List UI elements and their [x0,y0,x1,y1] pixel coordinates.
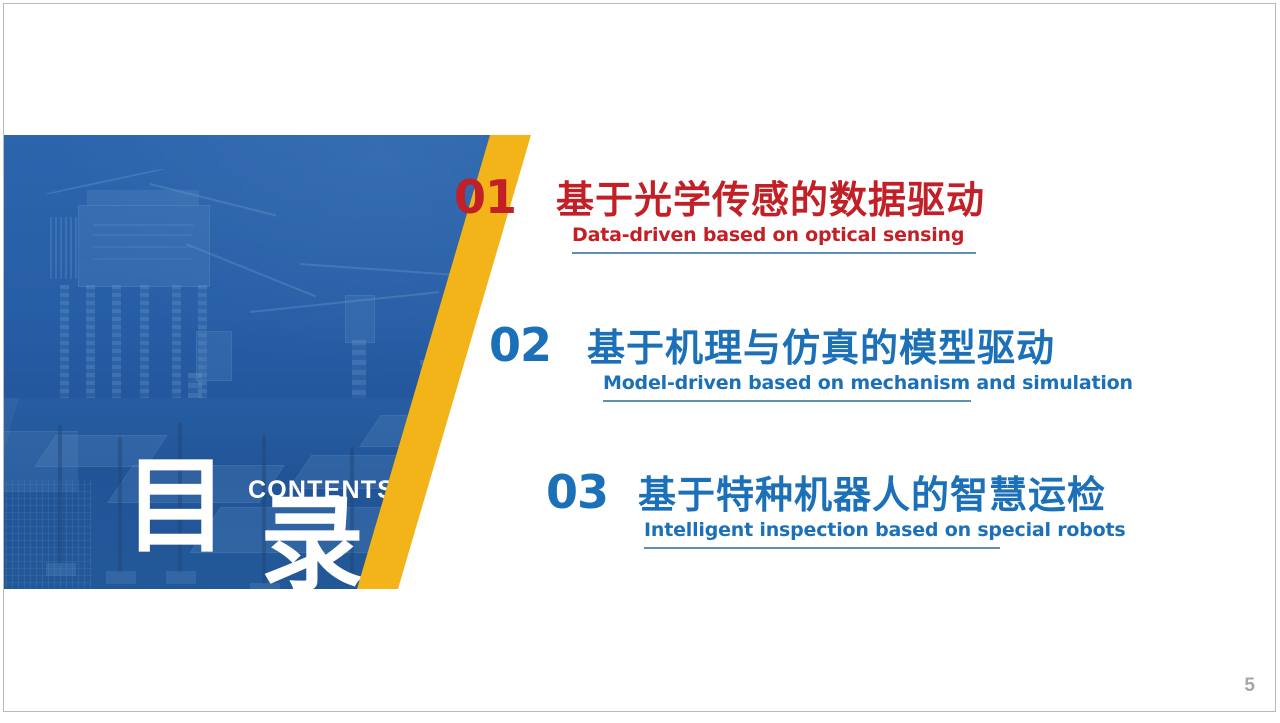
toc-item-02-subtitle-wrap: Model-driven based on mechanism and simu… [603,372,1133,402]
toc-item-01-row: 01 基于光学传感的数据驱动 [454,174,985,222]
toc-item-01-title-cn: 基于光学传感的数据驱动 [556,178,985,222]
toc-item-01-title-en: Data-driven based on optical sensing [572,224,964,251]
toc-item-03-number: 03 [546,469,608,515]
toc-list: 01 基于光学传感的数据驱动 Data-driven based on opti… [454,154,1244,584]
page-number: 5 [1244,675,1255,697]
toc-item-02-title-en: Model-driven based on mechanism and simu… [603,372,1133,399]
toc-item-02[interactable]: 02 基于机理与仿真的模型驱动 Model-driven based on me… [489,322,1133,402]
slide-canvas: 目录 CONTENTS 01 基于光学传感的数据驱动 Data-driven b… [3,3,1276,712]
contents-title-cn: 目录 [124,454,332,558]
toc-item-03-row: 03 基于特种机器人的智慧运检 [546,469,1126,517]
toc-item-03-title-cn: 基于特种机器人的智慧运检 [638,473,1106,517]
contents-title-en: CONTENTS [248,476,395,505]
contents-title-cn-char1: 目 [124,445,228,567]
toc-item-01-subtitle-wrap: Data-driven based on optical sensing [572,224,985,254]
toc-item-02-underline [603,400,971,402]
toc-item-01-number: 01 [454,174,516,220]
toc-item-01[interactable]: 01 基于光学传感的数据驱动 Data-driven based on opti… [454,174,985,254]
toc-item-03-subtitle-wrap: Intelligent inspection based on special … [644,519,1126,549]
toc-item-03[interactable]: 03 基于特种机器人的智慧运检 Intelligent inspection b… [546,469,1126,549]
toc-item-02-title-cn: 基于机理与仿真的模型驱动 [587,326,1055,370]
toc-item-02-number: 02 [489,322,551,368]
toc-item-03-title-en: Intelligent inspection based on special … [644,519,1126,546]
toc-item-02-row: 02 基于机理与仿真的模型驱动 [489,322,1133,370]
toc-item-01-underline [572,252,976,254]
toc-item-03-underline [644,547,1000,549]
